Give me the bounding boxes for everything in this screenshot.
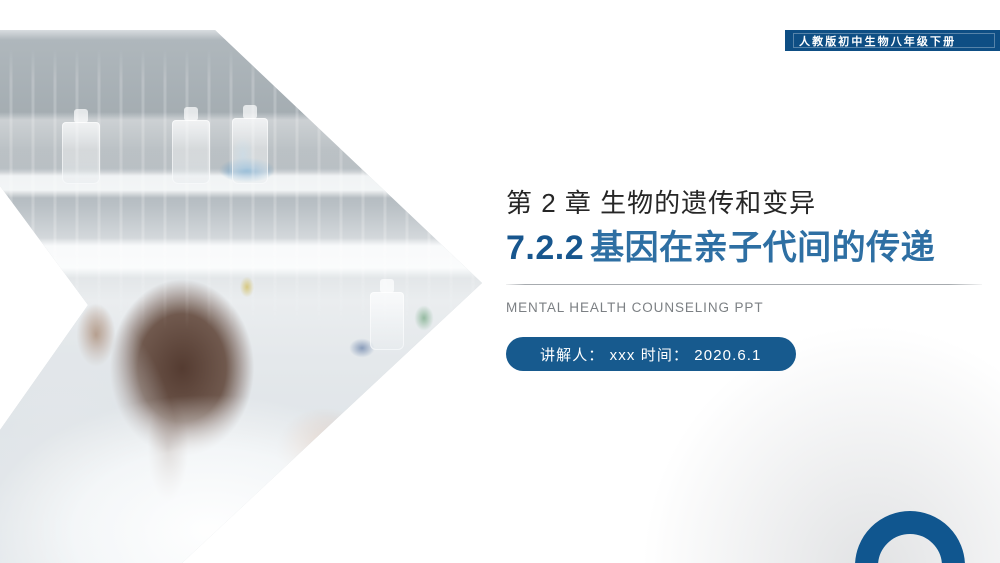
laboratory-photo-image (0, 0, 500, 563)
reagent-bottle (62, 122, 100, 184)
course-badge: 人教版初中生物八年级下册 (785, 30, 1000, 51)
laboratory-photo (0, 0, 500, 563)
presenter-badge: 讲解人： xxx 时间： 2020.6.1 (506, 337, 796, 371)
reagent-bottle (370, 292, 404, 350)
subtitle: MENTAL HEALTH COUNSELING PPT (506, 300, 986, 315)
page-title: 7.2.2基因在亲子代间的传递 (506, 226, 986, 270)
lesson-title: 基因在亲子代间的传递 (590, 229, 935, 267)
title-block: 第 2 章 生物的遗传和变异 7.2.2基因在亲子代间的传递 MENTAL HE… (506, 186, 986, 371)
reagent-bottle (172, 120, 210, 184)
blue-ring-icon (855, 511, 965, 563)
chapter-title: 第 2 章 生物的遗传和变异 (506, 186, 986, 220)
lesson-number: 7.2.2 (506, 229, 584, 267)
presentation-slide: 人教版初中生物八年级下册 第 2 章 生物的遗传和变异 7.2.2基因在亲子代间… (0, 0, 1000, 563)
reagent-bottle (232, 118, 268, 184)
course-badge-label: 人教版初中生物八年级下册 (799, 33, 956, 49)
title-divider (506, 284, 982, 285)
